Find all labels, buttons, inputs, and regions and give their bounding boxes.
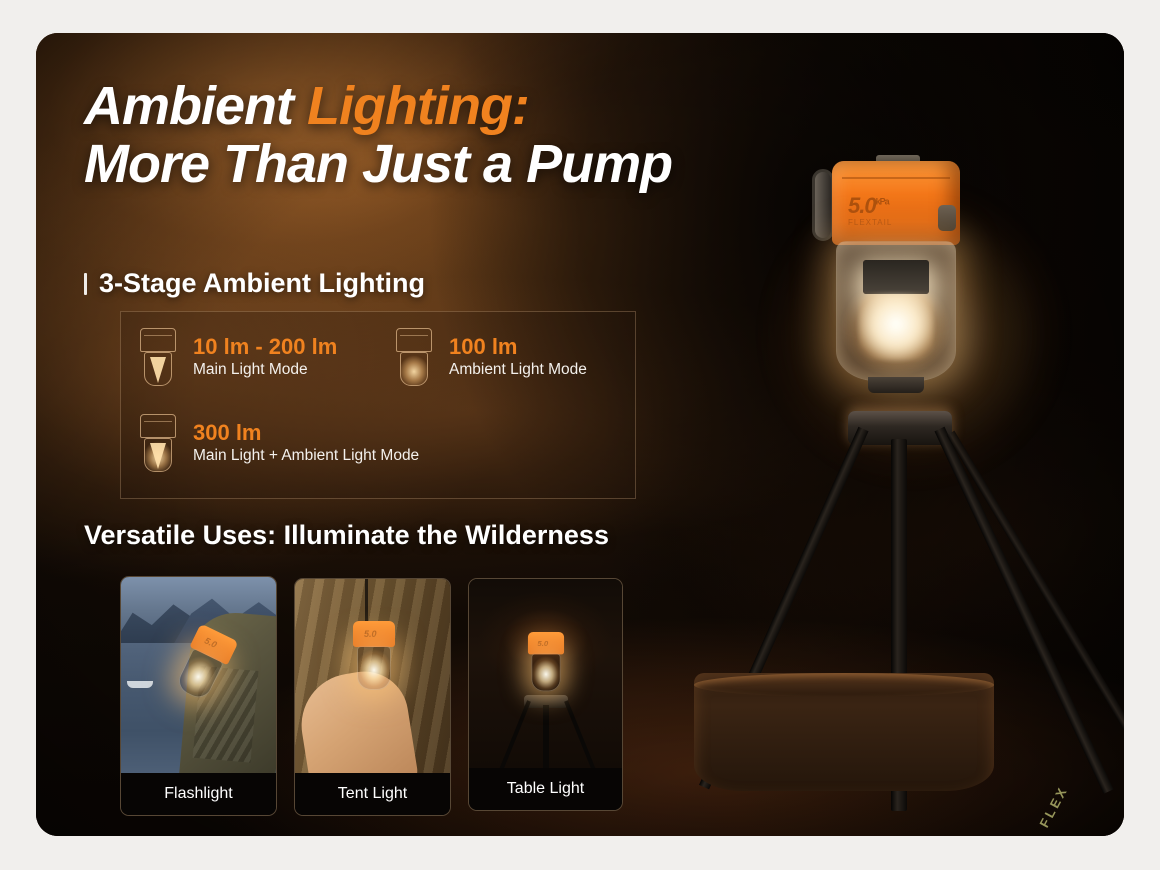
use-case-label-tent-light: Tent Light bbox=[295, 773, 450, 815]
product-feature-card: 5.0kPa FLEXTAIL FLEX bbox=[36, 33, 1124, 836]
lamp-brand-value: 5.0kPa bbox=[848, 195, 889, 217]
spec-text-main-light: 10 lm - 200 lm Main Light Mode bbox=[193, 334, 337, 379]
use-case-label-flashlight: Flashlight bbox=[121, 773, 276, 815]
lamp-led-module bbox=[863, 260, 929, 294]
section-heading-versatile-uses-label: Versatile Uses: Illuminate the Wildernes… bbox=[84, 520, 609, 551]
spec-mode-ambient-light: Ambient Light Mode bbox=[449, 360, 587, 379]
use-case-label-table-light: Table Light bbox=[469, 768, 622, 810]
lantern-icon-body bbox=[400, 352, 428, 386]
tripod-brand-text: FLEX bbox=[1036, 783, 1070, 830]
lantern-ambient-light-icon bbox=[393, 326, 435, 388]
section-heading-3-stage-label: 3-Stage Ambient Lighting bbox=[99, 268, 425, 299]
lantern-icon-beam-cone bbox=[150, 443, 166, 469]
lantern-main-light-icon bbox=[137, 326, 179, 388]
use-case-card-table-light[interactable]: Table Light bbox=[468, 578, 623, 811]
lamp-light-core bbox=[859, 294, 933, 360]
use-case-photo-flashlight bbox=[121, 577, 276, 773]
mini-lantern-head bbox=[353, 621, 395, 647]
spec-lumens-combined-light: 300 lm bbox=[193, 420, 419, 446]
page-root: 5.0kPa FLEXTAIL FLEX bbox=[0, 0, 1160, 870]
spec-row-combined-light: 300 lm Main Light + Ambient Light Mode bbox=[137, 412, 419, 474]
use-case-card-flashlight[interactable]: Flashlight bbox=[120, 576, 277, 816]
lamp-brand-unit: kPa bbox=[876, 197, 889, 207]
use-case-card-list: Flashlight Tent Light bbox=[120, 576, 680, 826]
use-case-photo-tent-light bbox=[295, 579, 450, 773]
spec-lumens-main-light: 10 lm - 200 lm bbox=[193, 334, 337, 360]
lantern-icon-body bbox=[144, 352, 172, 386]
lamp-power-button bbox=[938, 205, 956, 231]
lantern-icon-head bbox=[140, 328, 176, 352]
use-case-photo-table-light bbox=[469, 579, 622, 768]
mini-lantern-tent bbox=[353, 621, 395, 693]
lamp-head-seam bbox=[842, 177, 950, 179]
lamp-clear-globe bbox=[836, 241, 956, 381]
headline-line1-plain: Ambient bbox=[84, 76, 307, 136]
content-column: Ambient Lighting: More Than Just a Pump … bbox=[84, 33, 784, 836]
use-case-card-tent-light[interactable]: Tent Light bbox=[294, 578, 451, 816]
spec-text-combined-light: 300 lm Main Light + Ambient Light Mode bbox=[193, 420, 419, 465]
page-title: Ambient Lighting: More Than Just a Pump bbox=[84, 78, 672, 194]
section-heading-3-stage: 3-Stage Ambient Lighting bbox=[84, 268, 425, 299]
lantern-icon-body bbox=[144, 438, 172, 472]
section-heading-versatile-uses: Versatile Uses: Illuminate the Wildernes… bbox=[84, 520, 609, 551]
spec-row-ambient-light: 100 lm Ambient Light Mode bbox=[393, 326, 587, 388]
spec-mode-main-light: Main Light Mode bbox=[193, 360, 337, 379]
hero-lantern: 5.0kPa FLEXTAIL bbox=[824, 155, 976, 415]
lantern-combined-light-icon bbox=[137, 412, 179, 474]
headline-line2: More Than Just a Pump bbox=[84, 136, 672, 194]
spec-row-main-light: 10 lm - 200 lm Main Light Mode bbox=[137, 326, 337, 388]
headline-line1-accent: Lighting: bbox=[307, 76, 529, 136]
mini-tripod-leg-left bbox=[495, 700, 531, 768]
boat bbox=[127, 681, 153, 688]
mini-tripod-leg-right bbox=[564, 700, 600, 768]
carabiner-clip-icon bbox=[812, 169, 834, 241]
spec-lumens-ambient-light: 100 lm bbox=[449, 334, 587, 360]
mini-tripod-leg-center bbox=[543, 705, 549, 768]
lamp-brand-name: FLEXTAIL bbox=[848, 218, 892, 227]
lantern-icon-beam-cone bbox=[150, 357, 166, 383]
mini-lantern-globe bbox=[357, 646, 391, 690]
mini-lantern-head bbox=[527, 632, 563, 654]
mini-lantern-globe bbox=[531, 654, 560, 692]
spec-mode-combined-light: Main Light + Ambient Light Mode bbox=[193, 446, 419, 465]
spec-text-ambient-light: 100 lm Ambient Light Mode bbox=[449, 334, 587, 379]
lighting-spec-panel: 10 lm - 200 lm Main Light Mode 100 lm Am… bbox=[120, 311, 636, 499]
lamp-brand-number: 5.0 bbox=[848, 193, 876, 218]
lantern-icon-head bbox=[140, 414, 176, 438]
lamp-base-foot bbox=[868, 377, 924, 393]
lamp-orange-head: 5.0kPa FLEXTAIL bbox=[832, 161, 960, 245]
mini-lantern-table bbox=[527, 632, 563, 694]
lantern-icon-head bbox=[396, 328, 432, 352]
hanging-cord bbox=[365, 579, 368, 621]
lantern-icon-ambient-glow bbox=[401, 353, 427, 385]
